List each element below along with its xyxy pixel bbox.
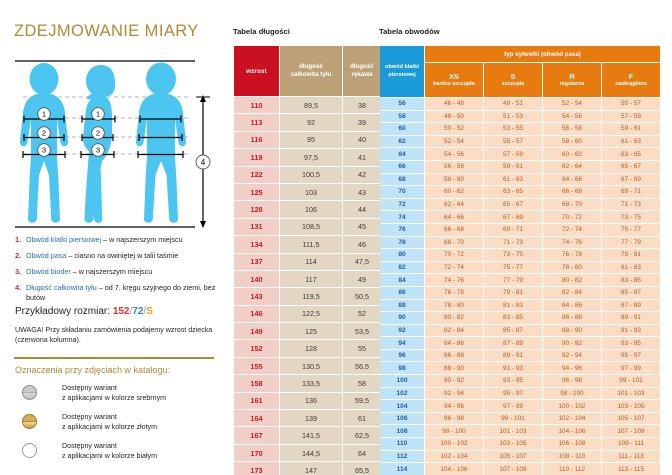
cell-xs: 68 - 70 [425,237,483,249]
cell-f: 109 - 111 [602,438,660,450]
cell-height: 140 [234,271,279,287]
cell-r: 106 - 108 [543,438,601,450]
list-item-term: Długość całkowita tyłu [26,283,97,292]
cell-f: 85 - 87 [602,287,660,299]
length-table: wzrost długość całkowita tyłu długość rę… [233,45,382,475]
measurement-figure: 1 2 3 1 2 3 4 [13,57,218,232]
table-row: 12810644 [234,201,381,217]
table-row: 6454 - 5657 - 5960 - 6263 - 65 [380,148,660,160]
cell-back-length: 128 [280,340,342,356]
cell-back-length: 103 [280,184,342,200]
cell-chest: 58 [380,111,424,123]
cell-chest: 82 [380,262,424,274]
example-waist: 72 [132,306,143,317]
cell-sleeve-length: 38 [343,97,381,113]
col-header-line-2: całkowita tyłu [291,71,332,78]
cell-xs: 90 - 92 [425,375,483,387]
list-item: 2. Obwód pasa – ciasno na owiniętej w ta… [15,251,225,261]
example-size-line: Przykładowy rozmiar: 152/72/S [15,306,153,317]
col-header-line-2: rękawa [352,71,373,78]
length-table-body: 11089,5381139239116954011997,541122100,5… [234,97,381,475]
cell-chest: 86 [380,287,424,299]
cell-s: 75 - 77 [484,262,542,274]
cell-chest: 64 [380,148,424,160]
cell-sleeve-length: 52 [343,306,381,322]
cell-height: 137 [234,254,279,270]
warning-note: UWAGA! Przy składaniu zamówienia podajem… [15,325,215,346]
cell-height: 131 [234,219,279,235]
cell-xs: 86 - 88 [425,350,483,362]
cell-back-length: 122,5 [280,306,342,322]
cell-f: 99 - 101 [602,375,660,387]
cell-height: 134 [234,236,279,252]
cell-sleeve-length: 62,5 [343,427,381,443]
table-row: 8070 - 7273 - 7576 - 7879 - 81 [380,249,660,261]
size-code: XS [425,72,483,81]
cell-s: 79 - 81 [484,287,542,299]
cell-chest: 78 [380,237,424,249]
cell-xs: 96 - 98 [425,413,483,425]
cell-s: 55 - 57 [484,136,542,148]
cell-r: 76 - 78 [543,249,601,261]
cell-xs: 80 - 82 [425,312,483,324]
cell-s: 67 - 69 [484,211,542,223]
svg-text:4: 4 [201,158,206,167]
cell-s: 93 - 95 [484,375,542,387]
table-row: 122100,542 [234,167,381,183]
cell-r: 62 - 64 [543,161,601,173]
cell-back-length: 130,5 [280,358,342,374]
table-row: 7262 - 6465 - 6768 - 7071 - 73 [380,199,660,211]
cell-xs: 94 - 96 [425,400,483,412]
cell-chest: 110 [380,438,424,450]
cell-r: 104 - 106 [543,425,601,437]
table-row: 131108,545 [234,219,381,235]
size-desc: bardzo szczupła [425,81,483,88]
cell-xs: 48 - 50 [425,111,483,123]
table-row: 6858 - 6061 - 6364 - 6667 - 69 [380,174,660,186]
cell-r: 72 - 74 [543,224,601,236]
table-row: 6050 - 5253 - 5556 - 5859 - 61 [380,123,660,135]
list-item: Dostępny wariant z aplikacjami w kolorze… [22,441,222,470]
table-row: 17314765,5 [234,462,381,475]
cell-xs: 84 - 86 [425,337,483,349]
table-row: 14011749 [234,271,381,287]
cell-r: 92 - 94 [543,350,601,362]
cell-back-length: 125 [280,323,342,339]
cell-height: 113 [234,114,279,130]
cell-r: 52 - 54 [543,98,601,110]
table-row: 7464 - 6667 - 6970 - 7273 - 75 [380,211,660,223]
cell-chest: 94 [380,337,424,349]
cell-s: 97 - 99 [484,400,542,412]
cell-f: 111 - 113 [602,451,660,463]
cell-s: 63 - 65 [484,186,542,198]
cell-r: 58 - 60 [543,136,601,148]
cell-chest: 88 [380,300,424,312]
section-divider [14,357,214,359]
legend-line-1: Dostępny wariant [62,384,117,392]
table-row: 16413961 [234,410,381,426]
table-row: 6252 - 5455 - 5758 - 6061 - 63 [380,136,660,148]
cell-back-length: 136 [280,393,342,409]
table-row: 8474 - 7677 - 7980 - 8283 - 85 [380,274,660,286]
size-desc: regularna [543,81,601,88]
cell-f: 59 - 61 [602,123,660,135]
measuring-instructions-panel: ZDEJMOWANIE MIARY [0,0,228,475]
cell-s: 105 - 107 [484,451,542,463]
cell-f: 67 - 69 [602,174,660,186]
cell-f: 77 - 79 [602,237,660,249]
cell-chest: 72 [380,199,424,211]
size-code: F [602,72,660,81]
cell-chest: 102 [380,388,424,400]
cell-r: 68 - 70 [543,199,601,211]
cell-xs: 56 - 58 [425,161,483,173]
list-item: Dostępny wariant z aplikacjami w kolorze… [22,383,222,412]
cell-s: 85 - 87 [484,325,542,337]
cell-height: 128 [234,201,279,217]
cell-r: 90 - 92 [543,337,601,349]
cell-f: 113 - 115 [602,463,660,475]
cell-f: 57 - 59 [602,111,660,123]
table-row: 170144,564 [234,445,381,461]
cell-f: 89 - 91 [602,312,660,324]
cell-s: 77 - 79 [484,274,542,286]
cell-r: 110 - 112 [543,463,601,475]
cell-r: 102 - 104 [543,413,601,425]
col-header-group-silhouette: typ sylwetki (obwód pasa) [425,46,660,62]
table-row: 7868 - 7071 - 7374 - 7677 - 79 [380,237,660,249]
cell-back-length: 139 [280,410,342,426]
cell-sleeve-length: 43 [343,184,381,200]
cell-s: 99 - 101 [484,413,542,425]
table-row: 167141,562,5 [234,427,381,443]
svg-text:2: 2 [96,129,100,138]
example-size-code: S [146,306,153,317]
cell-r: 60 - 62 [543,148,601,160]
cell-chest: 92 [380,325,424,337]
legend-item-text: Dostępny wariant z aplikacjami w kolorze… [62,441,157,462]
cell-xs: 46 - 48 [425,98,483,110]
cell-r: 100 - 102 [543,400,601,412]
cell-height: 149 [234,323,279,339]
cell-sleeve-length: 45 [343,219,381,235]
cell-s: 89 - 91 [484,350,542,362]
legend-item-text: Dostępny wariant z aplikacjami w kolorze… [62,383,166,404]
cell-xs: 104 - 106 [425,463,483,475]
cell-s: 59 - 61 [484,161,542,173]
cell-height: 167 [234,427,279,443]
cell-f: 79 - 81 [602,249,660,261]
table-row: 5646 - 4849 - 5152 - 5455 - 57 [380,98,660,110]
cell-f: 105 - 107 [602,413,660,425]
cell-back-length: 111,5 [280,236,342,252]
list-item-term: Obwód pasa [26,251,66,260]
cell-height: 173 [234,462,279,475]
cell-back-length: 114 [280,254,342,270]
cell-sleeve-length: 59,5 [343,393,381,409]
cell-f: 97 - 99 [602,362,660,374]
table-row: 10494 - 9697 - 99100 - 102103 - 105 [380,400,660,412]
white-dot-icon [22,443,37,458]
cell-chest: 90 [380,312,424,324]
cell-back-length: 117 [280,271,342,287]
cell-r: 98 - 100 [543,388,601,400]
list-item-number: 1. [15,235,21,245]
col-header-sleeve-length: długość rękawa [343,46,381,96]
cell-back-length: 106 [280,201,342,217]
col-header-line-2: piersiowej [388,72,415,78]
list-item: Dostępny wariant z aplikacjami w kolorze… [22,412,222,441]
cell-sleeve-length: 55 [343,340,381,356]
page-title: ZDEJMOWANIE MIARY [14,22,199,41]
cell-chest: 76 [380,224,424,236]
list-item-number: 2. [15,251,21,261]
cell-xs: 70 - 72 [425,249,483,261]
cell-chest: 70 [380,186,424,198]
cell-height: 152 [234,340,279,356]
cell-chest: 108 [380,425,424,437]
cell-s: 101 - 103 [484,425,542,437]
list-item: 1. Obwód klatki piersiowej – w najszersz… [15,235,225,245]
table-row: 7060 - 6263 - 6566 - 6869 - 71 [380,186,660,198]
table-row: 9484 - 8687 - 8990 - 9293 - 95 [380,337,660,349]
cell-s: 53 - 55 [484,123,542,135]
cell-chest: 60 [380,123,424,135]
cell-chest: 56 [380,98,424,110]
table-row: 1169540 [234,132,381,148]
table-row: 9282 - 8485 - 8788 - 9091 - 93 [380,325,660,337]
size-desc: zaokrąglona [602,81,660,88]
cell-s: 51 - 53 [484,111,542,123]
cell-chest: 114 [380,463,424,475]
table-row: 134111,546 [234,236,381,252]
cell-back-length: 95 [280,132,342,148]
cell-chest: 100 [380,375,424,387]
table-row: 8676 - 7879 - 8182 - 8485 - 87 [380,287,660,299]
cell-back-length: 147 [280,462,342,475]
cell-xs: 82 - 84 [425,325,483,337]
table-row: 15212855 [234,340,381,356]
legend-line-2: z aplikacjami w kolorze białym [62,452,157,460]
cell-back-length: 100,5 [280,167,342,183]
cell-f: 69 - 71 [602,186,660,198]
cell-f: 63 - 65 [602,148,660,160]
cell-sleeve-length: 47,5 [343,254,381,270]
table-row: 6656 - 5859 - 6162 - 6465 - 67 [380,161,660,173]
table-row: 8272 - 7475 - 7778 - 8081 - 83 [380,262,660,274]
cell-f: 75 - 77 [602,224,660,236]
cell-height: 170 [234,445,279,461]
cell-sleeve-length: 40 [343,132,381,148]
cell-xs: 54 - 56 [425,148,483,160]
cell-xs: 88 - 90 [425,362,483,374]
table-row: 114104 - 106107 - 109110 - 112113 - 115 [380,463,660,475]
measurement-definitions-list: 1. Obwód klatki piersiowej – w najszersz… [15,235,225,309]
table-header-row-top: obwód klatki piersiowej typ sylwetki (ob… [380,46,660,62]
cell-r: 86 - 88 [543,312,601,324]
table-row: 9888 - 9091 - 9394 - 9697 - 99 [380,362,660,374]
cell-sleeve-length: 53,5 [343,323,381,339]
cell-r: 66 - 68 [543,186,601,198]
silhouettes-diagram: 1 2 3 1 2 3 4 [13,57,218,232]
catalog-legend-list: Dostępny wariant z aplikacjami w kolorze… [22,383,222,470]
cell-chest: 98 [380,362,424,374]
cell-chest: 84 [380,274,424,286]
circumference-table-body: 5646 - 4849 - 5152 - 5455 - 575848 - 505… [380,98,660,475]
cell-s: 103 - 105 [484,438,542,450]
cell-r: 64 - 66 [543,174,601,186]
cell-r: 82 - 84 [543,287,601,299]
cell-xs: 50 - 52 [425,123,483,135]
table-row: 112102 - 104105 - 107108 - 110111 - 113 [380,451,660,463]
svg-text:1: 1 [96,110,100,119]
cell-back-length: 92 [280,114,342,130]
cell-sleeve-length: 44 [343,201,381,217]
cell-s: 71 - 73 [484,237,542,249]
cell-xs: 52 - 54 [425,136,483,148]
cell-chest: 104 [380,400,424,412]
svg-text:1: 1 [42,110,46,119]
cell-chest: 80 [380,249,424,261]
circumference-table: obwód klatki piersiowej typ sylwetki (ob… [379,45,661,475]
cell-back-length: 144,5 [280,445,342,461]
cell-xs: 74 - 76 [425,274,483,286]
cell-xs: 100 - 102 [425,438,483,450]
cell-s: 61 - 63 [484,174,542,186]
cell-sleeve-length: 42 [343,167,381,183]
cell-back-length: 89,5 [280,97,342,113]
cell-r: 94 - 96 [543,362,601,374]
legend-line-2: z aplikacjami w kolorze srebrnym [62,394,166,402]
table-row: 14912553,5 [234,323,381,339]
cell-chest: 112 [380,451,424,463]
size-code: S [484,72,542,81]
cell-f: 61 - 63 [602,136,660,148]
cell-s: 95 - 97 [484,388,542,400]
cell-chest: 62 [380,136,424,148]
cell-sleeve-length: 46 [343,236,381,252]
cell-chest: 66 [380,161,424,173]
cell-xs: 76 - 78 [425,287,483,299]
cell-sleeve-length: 49 [343,271,381,287]
table-row: 10292 - 9495 - 9798 - 100101 - 103 [380,388,660,400]
length-table-caption: Tabela długości [233,27,290,36]
cell-f: 73 - 75 [602,211,660,223]
cell-xs: 78 - 80 [425,300,483,312]
cell-sleeve-length: 50,5 [343,288,381,304]
table-row: 10898 - 100101 - 103104 - 106107 - 109 [380,425,660,437]
cell-xs: 72 - 74 [425,262,483,274]
cell-height: 125 [234,184,279,200]
svg-text:2: 2 [42,129,46,138]
cell-r: 108 - 110 [543,451,601,463]
col-header-line-1: obwód klatki [385,64,419,70]
cell-r: 74 - 76 [543,237,601,249]
cell-sleeve-length: 58 [343,375,381,391]
cell-xs: 62 - 64 [425,199,483,211]
example-height: 152 [113,306,130,317]
col-header-s: S szczupła [484,63,542,97]
list-item-number: 3. [15,267,21,277]
cell-s: 69 - 71 [484,224,542,236]
cell-f: 71 - 73 [602,199,660,211]
table-row: 1139239 [234,114,381,130]
table-row: 110100 - 102103 - 105106 - 108109 - 111 [380,438,660,450]
cell-back-length: 108,5 [280,219,342,235]
table-row: 12510343 [234,184,381,200]
cell-height: 143 [234,288,279,304]
silver-dot-icon [22,385,37,400]
col-header-f: F zaokrąglona [602,63,660,97]
table-row: 10696 - 9899 - 101102 - 104105 - 107 [380,413,660,425]
col-header-xs: XS bardzo szczupła [425,63,483,97]
cell-back-length: 133,5 [280,375,342,391]
cell-f: 91 - 93 [602,325,660,337]
cell-xs: 98 - 100 [425,425,483,437]
cell-f: 93 - 95 [602,337,660,349]
cell-s: 87 - 89 [484,337,542,349]
list-item-number: 4. [15,283,21,293]
cell-s: 65 - 67 [484,199,542,211]
cell-f: 55 - 57 [602,98,660,110]
svg-text:3: 3 [42,146,46,155]
cell-s: 81 - 83 [484,300,542,312]
cell-s: 91 - 93 [484,362,542,374]
table-header-row: wzrost długość całkowita tyłu długość rę… [234,46,381,96]
cell-height: 110 [234,97,279,113]
cell-xs: 66 - 68 [425,224,483,236]
cell-r: 80 - 82 [543,274,601,286]
cell-back-length: 141,5 [280,427,342,443]
size-code: R [543,72,601,81]
table-row: 9686 - 8889 - 9192 - 9495 - 97 [380,350,660,362]
legend-item-text: Dostępny wariant z aplikacjami w kolorze… [62,412,157,433]
cell-f: 87 - 89 [602,300,660,312]
cell-r: 88 - 90 [543,325,601,337]
cell-height: 164 [234,410,279,426]
table-row: 9080 - 8283 - 8586 - 8889 - 91 [380,312,660,324]
cell-f: 65 - 67 [602,161,660,173]
cell-chest: 96 [380,350,424,362]
example-label: Przykładowy rozmiar: [15,306,110,317]
gold-dot-icon [22,414,37,429]
cell-height: 122 [234,167,279,183]
cell-r: 56 - 58 [543,123,601,135]
list-item-rest: – w najszerszym miejscu [71,267,152,276]
cell-sleeve-length: 39 [343,114,381,130]
table-row: 10090 - 9293 - 9596 - 9899 - 101 [380,375,660,387]
table-row: 146122,552 [234,306,381,322]
table-row: 155130,556,5 [234,358,381,374]
cell-chest: 106 [380,413,424,425]
cell-r: 54 - 56 [543,111,601,123]
cell-f: 107 - 109 [602,425,660,437]
cell-xs: 102 - 104 [425,451,483,463]
list-item: 4. Długość całkowita tyłu – od 7. kręgu … [15,283,225,302]
list-item-term: Obwód klatki piersiowej [26,235,101,244]
table-row: 11089,538 [234,97,381,113]
svg-text:3: 3 [96,146,100,155]
table-row: 158133,558 [234,375,381,391]
table-row: 7666 - 6869 - 7172 - 7475 - 77 [380,224,660,236]
cell-height: 146 [234,306,279,322]
table-row: 5848 - 5051 - 5354 - 5657 - 59 [380,111,660,123]
cell-r: 96 - 98 [543,375,601,387]
cell-height: 155 [234,358,279,374]
cell-back-length: 119,5 [280,288,342,304]
